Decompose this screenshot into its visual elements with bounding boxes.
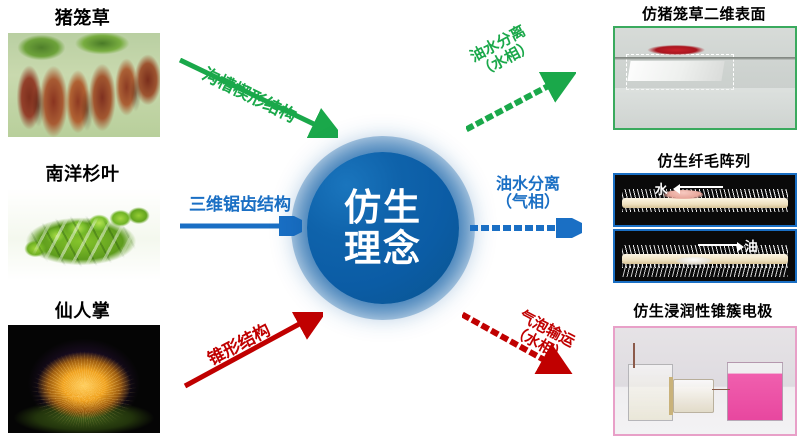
arrow-3d-sawtooth [178, 216, 302, 236]
electrode-left-beaker [628, 364, 673, 421]
arrow-label-3d-sawtooth: 三维锯齿结构 [180, 195, 300, 214]
bioinspired-cilia-array-photo: 水 油 [613, 173, 797, 283]
cilia-oil-panel: 油 [613, 229, 797, 283]
caption-araucaria: 南洋杉叶 [0, 160, 165, 186]
arrow-label-oil-water-gas-line2: （气相） [478, 194, 578, 212]
cilia-arrow-water [680, 186, 723, 188]
diagram-canvas: 猪笼草 南洋杉叶 仙人掌 沟槽楔形结构 三维锯齿结构 锥形结构 [0, 0, 806, 447]
caption-cactus: 仙人掌 [0, 297, 165, 323]
electrode-wire-2 [712, 389, 730, 390]
cilia-water-panel: 水 [613, 173, 797, 227]
cilia-arrow-oil [698, 244, 738, 246]
arrow-label-oil-water-gas-line1: 油水分离 [478, 176, 578, 194]
caption-nepenthes: 猪笼草 [0, 4, 165, 30]
cilia-label-water: 水 [655, 179, 668, 198]
electrode-cell [673, 379, 715, 413]
arrow-oil-water-separation-gas [470, 218, 582, 238]
center-label-line1: 仿生 [344, 187, 422, 228]
caption-bioinspired-2d-surface: 仿猪笼草二维表面 [606, 3, 802, 24]
nepenthes-photo [8, 33, 160, 137]
center-label-line2: 理念 [344, 228, 422, 269]
bioinspired-2d-surface-photo [613, 26, 797, 130]
caption-bioinspired-electrode: 仿生浸润性锥簇电极 [600, 300, 806, 321]
bioinspired-cone-cluster-electrode-photo [613, 326, 797, 436]
electrode-right-beaker [727, 362, 783, 421]
center-concept-circle: 仿生 理念 [307, 152, 459, 304]
electrode-wire-1 [633, 343, 635, 368]
arrow-label-oil-water-gas: 油水分离 （气相） [478, 176, 578, 212]
cilia-label-oil: 油 [745, 236, 758, 255]
cactus-spine-photo [8, 325, 160, 433]
electrode-post [669, 377, 673, 415]
caption-bioinspired-cilia-array: 仿生纤毛阵列 [606, 150, 802, 171]
araucaria-leaf-photo [8, 188, 160, 280]
